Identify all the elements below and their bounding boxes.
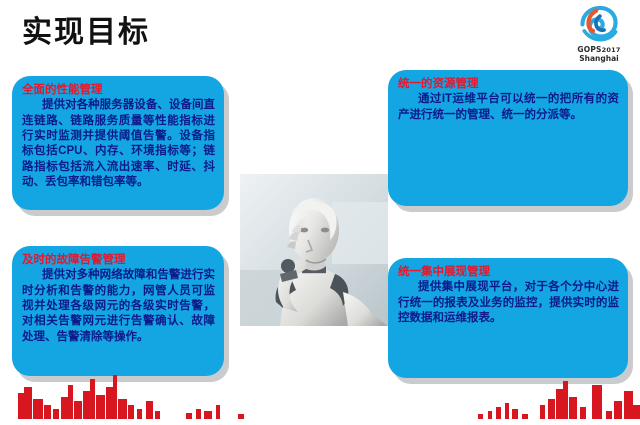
city-skyline-decoration (0, 371, 640, 425)
callout-body: 提供对各种服务器设备、设备间直连链路、链路服务质量等性能指标进行实时监测并提供阈… (22, 98, 215, 190)
callout-heading: 及时的故障告警管理 (22, 253, 215, 267)
logo-wordmark: GOPS2017 (566, 45, 632, 54)
logo-year: 2017 (602, 46, 621, 54)
callout-heading: 统一集中展现管理 (398, 265, 619, 279)
callout-heading: 统一的资源管理 (398, 77, 619, 91)
gops-swirl-icon (576, 4, 622, 44)
gops-logo: GOPS2017 Shanghai (566, 4, 632, 64)
fault-alarm-management-callout[interactable]: 及时的故障告警管理 提供对多种网络故障和告警进行实时分析和告警的能力，网管人员可… (12, 246, 224, 376)
callout-body: 提供对多种网络故障和告警进行实时分析和告警的能力，网管人员可监视并处理各级网元的… (22, 268, 215, 344)
logo-city: Shanghai (566, 54, 632, 63)
page-title: 实现目标 (22, 16, 150, 49)
presentation-slide: 实现目标 GOPS2017 Shanghai (0, 0, 640, 425)
callout-body: 提供集中展现平台，对于各个分中心进行统一的报表及业务的监控，提供实时的监控数据和… (398, 280, 619, 326)
callout-body: 通过IT运维平台可以统一的把所有的资产进行统一的管理、统一的分派等。 (398, 92, 619, 123)
centralized-display-management-callout[interactable]: 统一集中展现管理 提供集中展现平台，对于各个分中心进行统一的报表及业务的监控，提… (388, 258, 628, 378)
performance-management-callout[interactable]: 全面的性能管理 提供对各种服务器设备、设备间直连链路、链路服务质量等性能指标进行… (12, 76, 224, 210)
thinking-robot-photo (240, 174, 388, 326)
resource-management-callout[interactable]: 统一的资源管理 通过IT运维平台可以统一的把所有的资产进行统一的管理、统一的分派… (388, 70, 628, 206)
callout-heading: 全面的性能管理 (22, 83, 215, 97)
logo-brand: GOPS (577, 45, 601, 54)
